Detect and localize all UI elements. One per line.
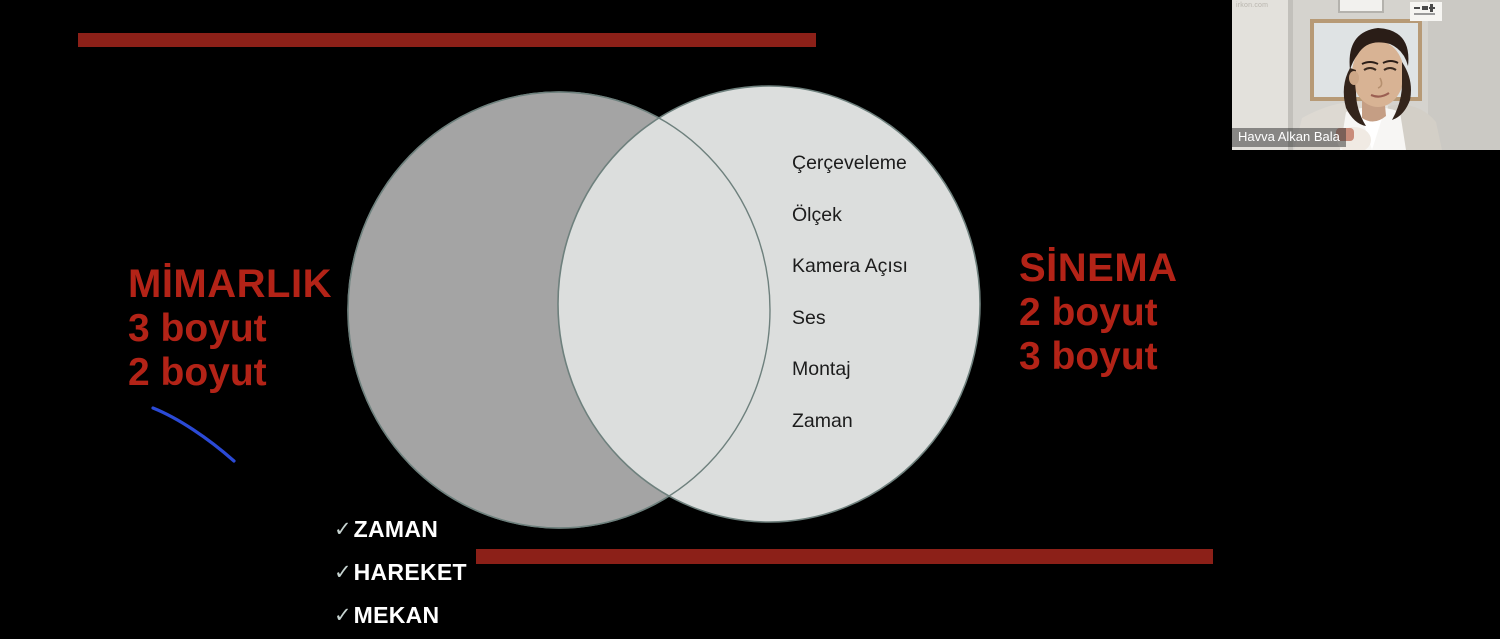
list-item: Ölçek (792, 206, 1002, 258)
check-icon: ✓ (334, 605, 352, 626)
webcam-watermark: irkon.com (1236, 2, 1268, 9)
bottom-accent-bar (476, 549, 1213, 564)
list-item: Çerçeveleme (792, 154, 1002, 206)
checklist-label: ZAMAN (354, 518, 439, 541)
shared-concepts-checklist: ✓ ZAMAN ✓ HAREKET ✓ MEKAN (334, 508, 467, 637)
checklist-label: HAREKET (354, 561, 467, 584)
check-icon: ✓ (334, 519, 352, 540)
cinema-line-2: 3 boyut (1019, 335, 1178, 379)
list-item: Zaman (792, 412, 1002, 464)
architecture-line-2: 2 boyut (128, 351, 332, 395)
participant-name-label: Havva Alkan Bala (1232, 128, 1346, 147)
list-item: ✓ ZAMAN (334, 508, 467, 551)
cinema-line-1: 2 boyut (1019, 291, 1178, 335)
check-icon: ✓ (334, 562, 352, 583)
ink-annotation-underline (150, 404, 280, 464)
cinema-title: SİNEMA (1019, 246, 1178, 291)
list-item: Montaj (792, 360, 1002, 412)
venn-concept-list: Çerçeveleme Ölçek Kamera Açısı Ses Monta… (792, 154, 1002, 463)
webcam-video-tile[interactable]: irkon.com Havva Alkan Bala (1232, 0, 1500, 150)
list-item: Ses (792, 309, 1002, 361)
checklist-label: MEKAN (354, 604, 440, 627)
slide-canvas: Çerçeveleme Ölçek Kamera Açısı Ses Monta… (0, 0, 1500, 639)
cinema-heading-block: SİNEMA 2 boyut 3 boyut (1019, 246, 1178, 379)
architecture-heading-block: MİMARLIK 3 boyut 2 boyut (128, 262, 332, 395)
list-item: Kamera Açısı (792, 257, 1002, 309)
architecture-title: MİMARLIK (128, 262, 332, 307)
list-item: ✓ MEKAN (334, 594, 467, 637)
top-accent-bar (78, 33, 816, 47)
architecture-line-1: 3 boyut (128, 307, 332, 351)
list-item: ✓ HAREKET (334, 551, 467, 594)
